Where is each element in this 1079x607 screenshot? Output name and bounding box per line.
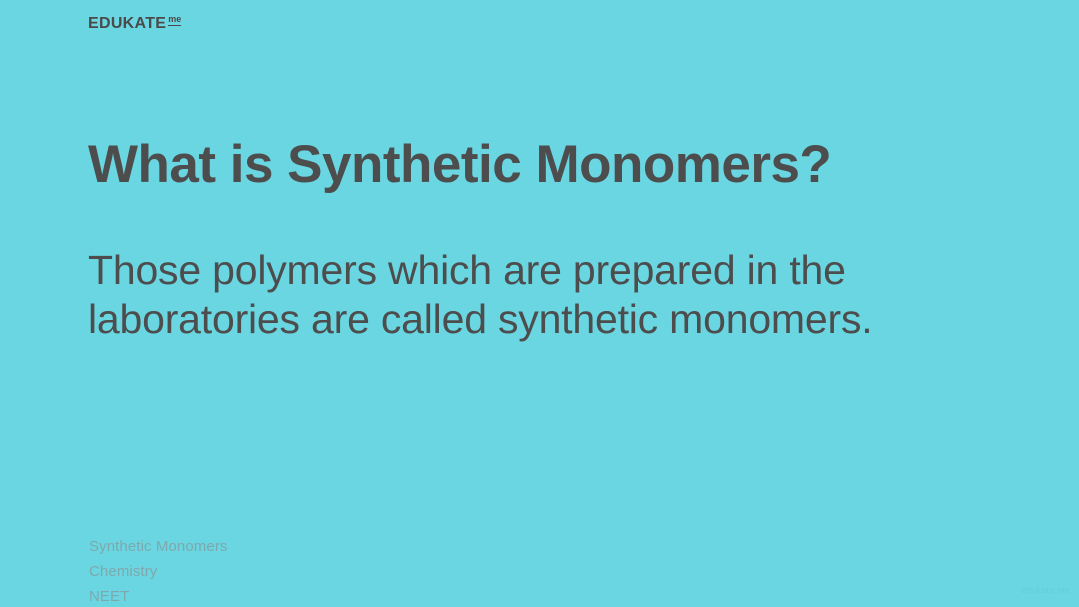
slide-footer: Synthetic Monomers Chemistry NEET bbox=[89, 534, 228, 607]
footer-line-subject: Chemistry bbox=[89, 559, 228, 584]
edukate-logo[interactable]: EDUKATE me bbox=[88, 16, 181, 32]
logo-superscript: me bbox=[168, 15, 181, 26]
slide-title: What is Synthetic Monomers? bbox=[88, 136, 988, 194]
slide-canvas: EDUKATE me What is Synthetic Monomers? T… bbox=[0, 0, 1079, 607]
slide-body: Those polymers which are prepared in the… bbox=[88, 246, 968, 344]
body-line: laboratories are called synthetic monome… bbox=[88, 295, 968, 344]
body-line: Those polymers which are prepared in the bbox=[88, 246, 968, 295]
footer-line-topic: Synthetic Monomers bbox=[89, 534, 228, 559]
logo-wordmark: EDUKATE bbox=[88, 16, 166, 32]
watermark-label: edukate.me bbox=[1021, 585, 1070, 595]
footer-line-exam: NEET bbox=[89, 584, 228, 607]
